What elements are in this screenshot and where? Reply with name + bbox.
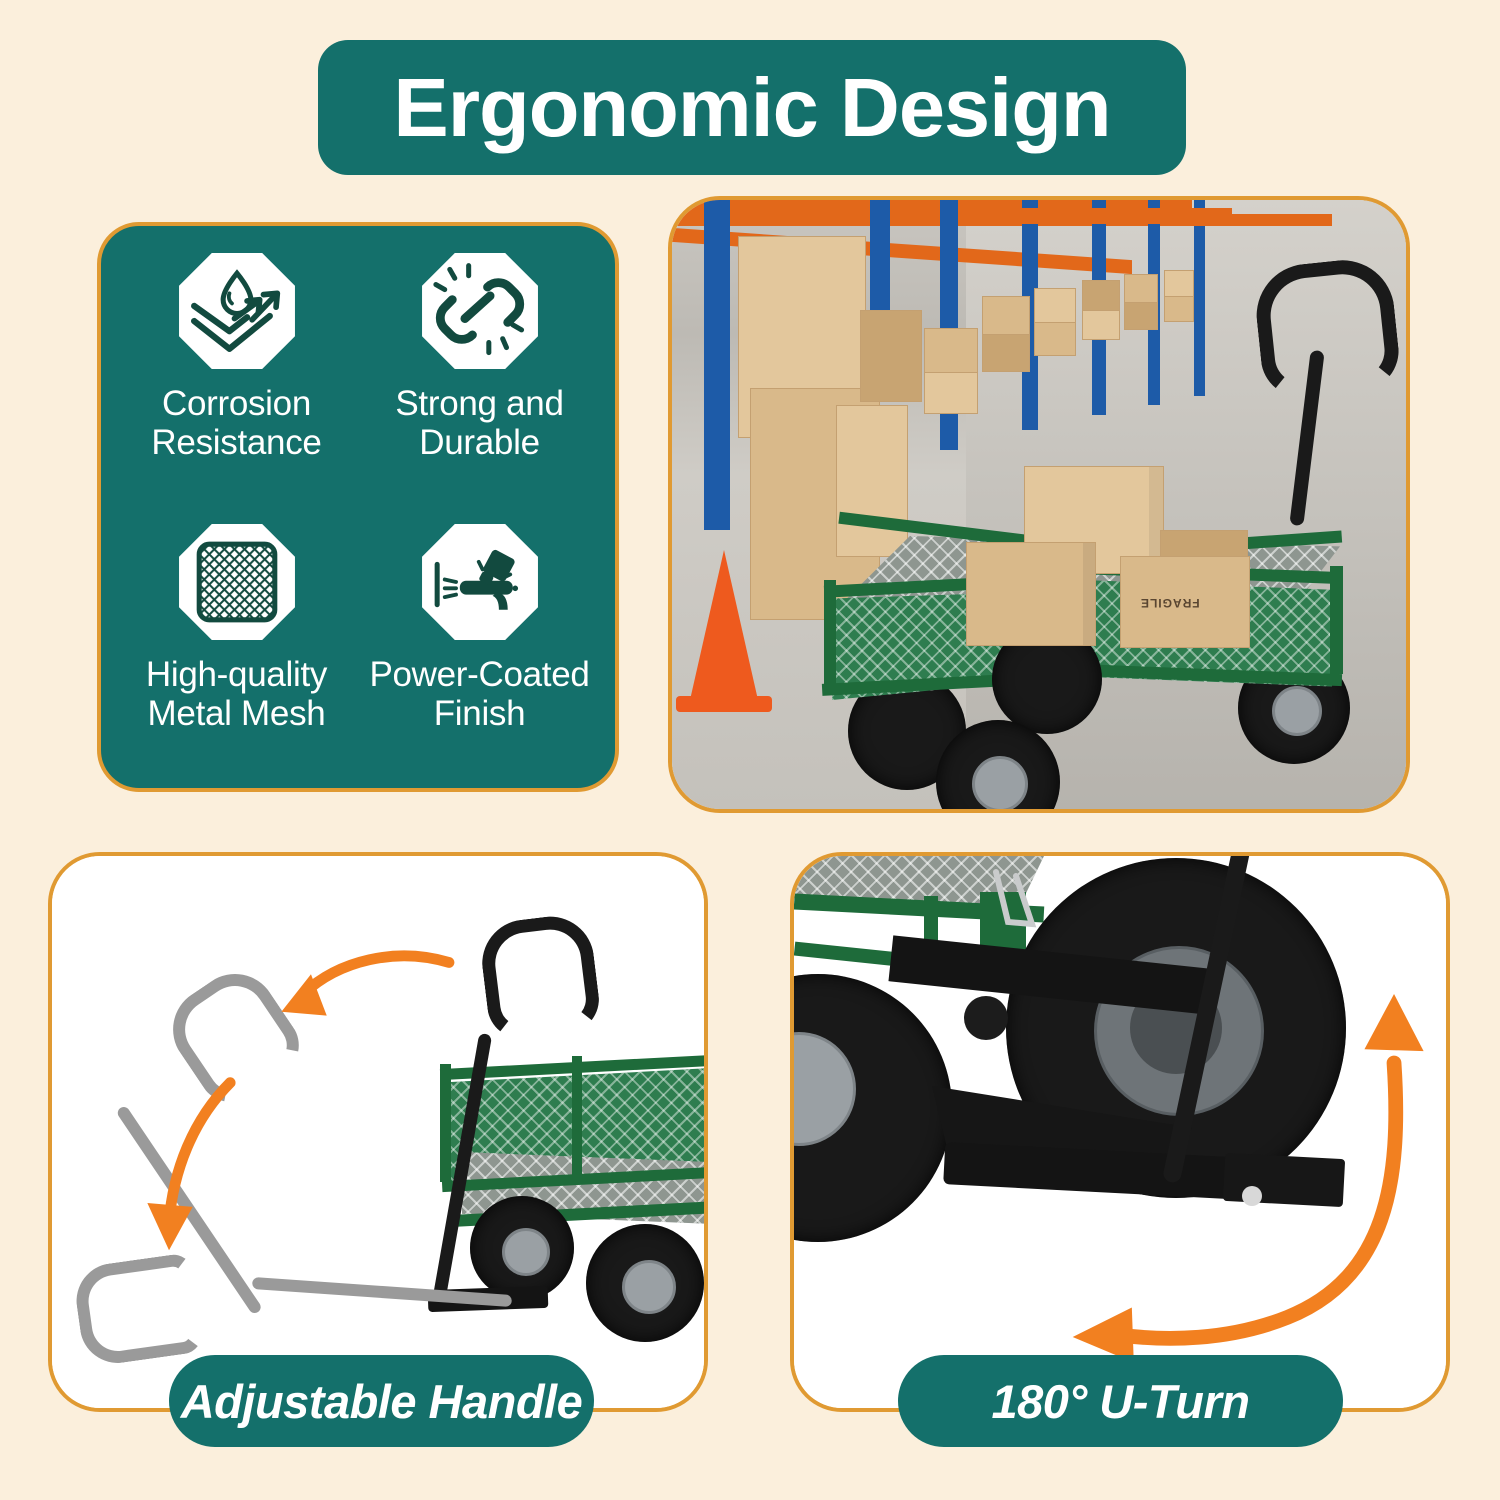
u-turn-scene [794,856,1446,1408]
adjustable-handle-caption: Adjustable Handle [169,1355,594,1447]
feature-label: High-quality Metal Mesh [146,655,327,733]
u-turn-photo [790,852,1450,1412]
caption-text: Adjustable Handle [181,1374,583,1429]
feature-label: Strong and Durable [395,384,563,462]
u-turn-arrow [794,856,1446,1408]
feature-item-metal-mesh: High-quality Metal Mesh [115,511,358,774]
adjustable-handle-scene [52,856,704,1408]
handle-motion-arrows [52,856,704,1408]
page-title: Ergonomic Design [393,66,1110,149]
cart-handle-grip [1251,255,1402,401]
caption-text: 180° U-Turn [992,1374,1250,1429]
adjustable-handle-photo [48,852,708,1412]
u-turn-caption: 180° U-Turn [898,1355,1343,1447]
feature-item-powder-coated-finish: Power-Coated Finish [358,511,601,774]
feature-label: Power-Coated Finish [369,655,589,733]
metal-mesh-icon [174,519,300,645]
feature-item-strong-and-durable: Strong and Durable [358,248,601,511]
features-panel: Corrosion Resistance Strong and Durable [97,222,619,792]
chain-link-icon [417,248,543,374]
warehouse-scene: FRAGILE [672,200,1406,809]
spray-gun-icon [417,519,543,645]
page-title-banner: Ergonomic Design [318,40,1186,175]
box-fragile-label: FRAGILE [1140,596,1200,610]
feature-item-corrosion-resistance: Corrosion Resistance [115,248,358,511]
feature-label: Corrosion Resistance [151,384,321,462]
water-repellent-icon [174,248,300,374]
warehouse-cart-photo: FRAGILE [668,196,1410,813]
